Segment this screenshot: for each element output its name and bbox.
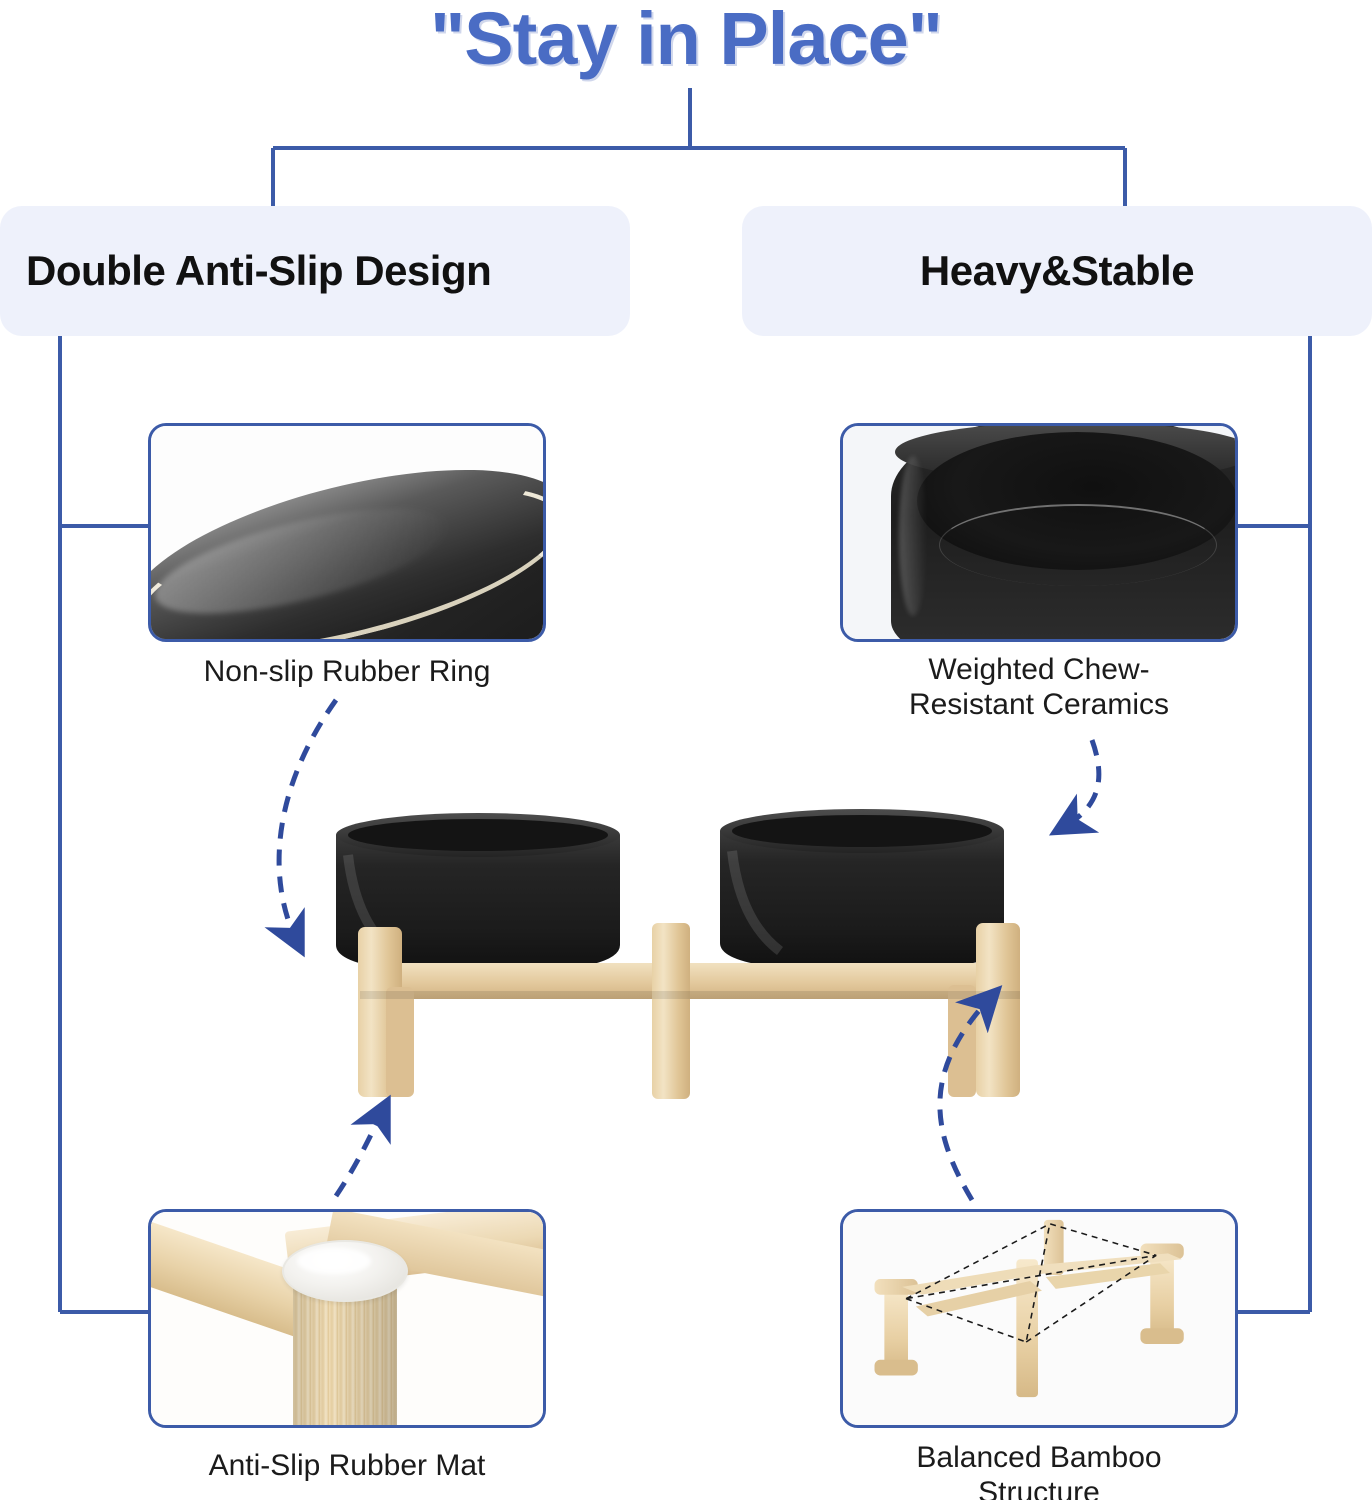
branch-label-heavy-stable: Heavy&Stable	[742, 206, 1372, 336]
caption-anti-slip-rubber-mat: Anti-Slip Rubber Mat	[148, 1448, 546, 1483]
photo-bamboo-leg-with-rubber-pad	[151, 1212, 543, 1425]
photo-frame-anti-slip-rubber-mat	[148, 1209, 546, 1428]
photo-bowl-base-with-rubber-ring	[151, 426, 543, 639]
page-title: "Stay in Place"	[0, 0, 1372, 81]
caption-non-slip-rubber-ring: Non-slip Rubber Ring	[148, 654, 546, 689]
caption-balanced-bamboo-structure: Balanced Bamboo Structure	[840, 1440, 1238, 1500]
branch-label-double-anti-slip: Double Anti-Slip Design	[0, 206, 630, 336]
product-right-leg	[976, 923, 1020, 1097]
product-right-bowl	[720, 809, 1004, 971]
photo-frame-weighted-ceramics	[840, 423, 1238, 642]
arrow-to-leg-foot	[336, 1108, 384, 1196]
photo-black-ceramic-bowl-interior	[843, 426, 1235, 639]
photo-bamboo-stand-triangulated	[843, 1212, 1235, 1425]
caption-weighted-chew-resistant-ceramics: Weighted Chew- Resistant Ceramics	[830, 652, 1248, 723]
photo-frame-non-slip-rubber-ring	[148, 423, 546, 642]
branch-label-left-text: Double Anti-Slip Design	[26, 247, 604, 295]
branch-label-right-text: Heavy&Stable	[768, 247, 1346, 295]
infographic-canvas: "Stay in Place" Double Anti-Slip Design …	[0, 0, 1372, 1500]
product-image-elevated-double-bowl	[300, 795, 1080, 1115]
photo-frame-balanced-bamboo-structure	[840, 1209, 1238, 1428]
